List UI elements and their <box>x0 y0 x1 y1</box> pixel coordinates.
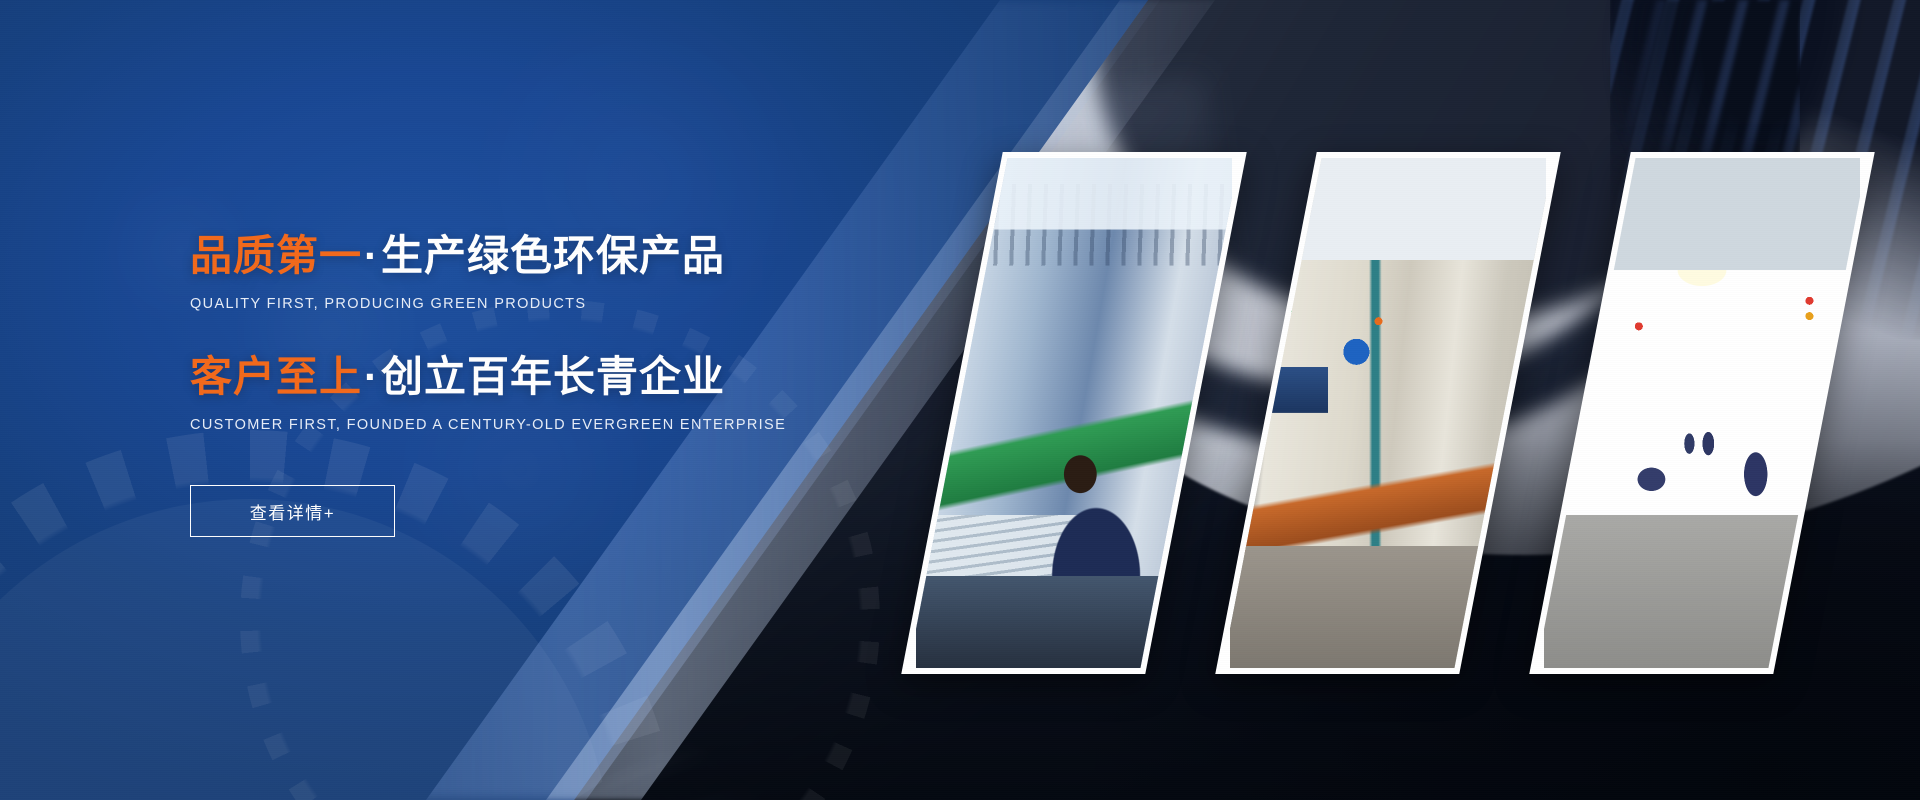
hero-banner: 品质第一·生产绿色环保产品 QUALITY FIRST, PRODUCING G… <box>0 0 1920 800</box>
subline-secondary: CUSTOMER FIRST, FOUNDED A CENTURY-OLD EV… <box>190 417 810 433</box>
headline-secondary: 客户至上·创立百年长青企业 <box>190 353 810 400</box>
view-details-button[interactable]: 查看详情+ <box>190 485 395 537</box>
headline-primary: 品质第一·生产绿色环保产品 <box>190 232 810 279</box>
headline-primary-separator: · <box>362 232 381 279</box>
headline-secondary-separator: · <box>362 353 381 400</box>
headline-primary-rest: 生产绿色环保产品 <box>381 232 725 279</box>
headline-secondary-rest: 创立百年长青企业 <box>381 353 725 400</box>
hero-copy-block: 品质第一·生产绿色环保产品 QUALITY FIRST, PRODUCING G… <box>190 232 810 537</box>
headline-secondary-accent: 客户至上 <box>190 353 362 400</box>
subline-primary: QUALITY FIRST, PRODUCING GREEN PRODUCTS <box>190 296 810 312</box>
headline-primary-accent: 品质第一 <box>190 232 362 279</box>
